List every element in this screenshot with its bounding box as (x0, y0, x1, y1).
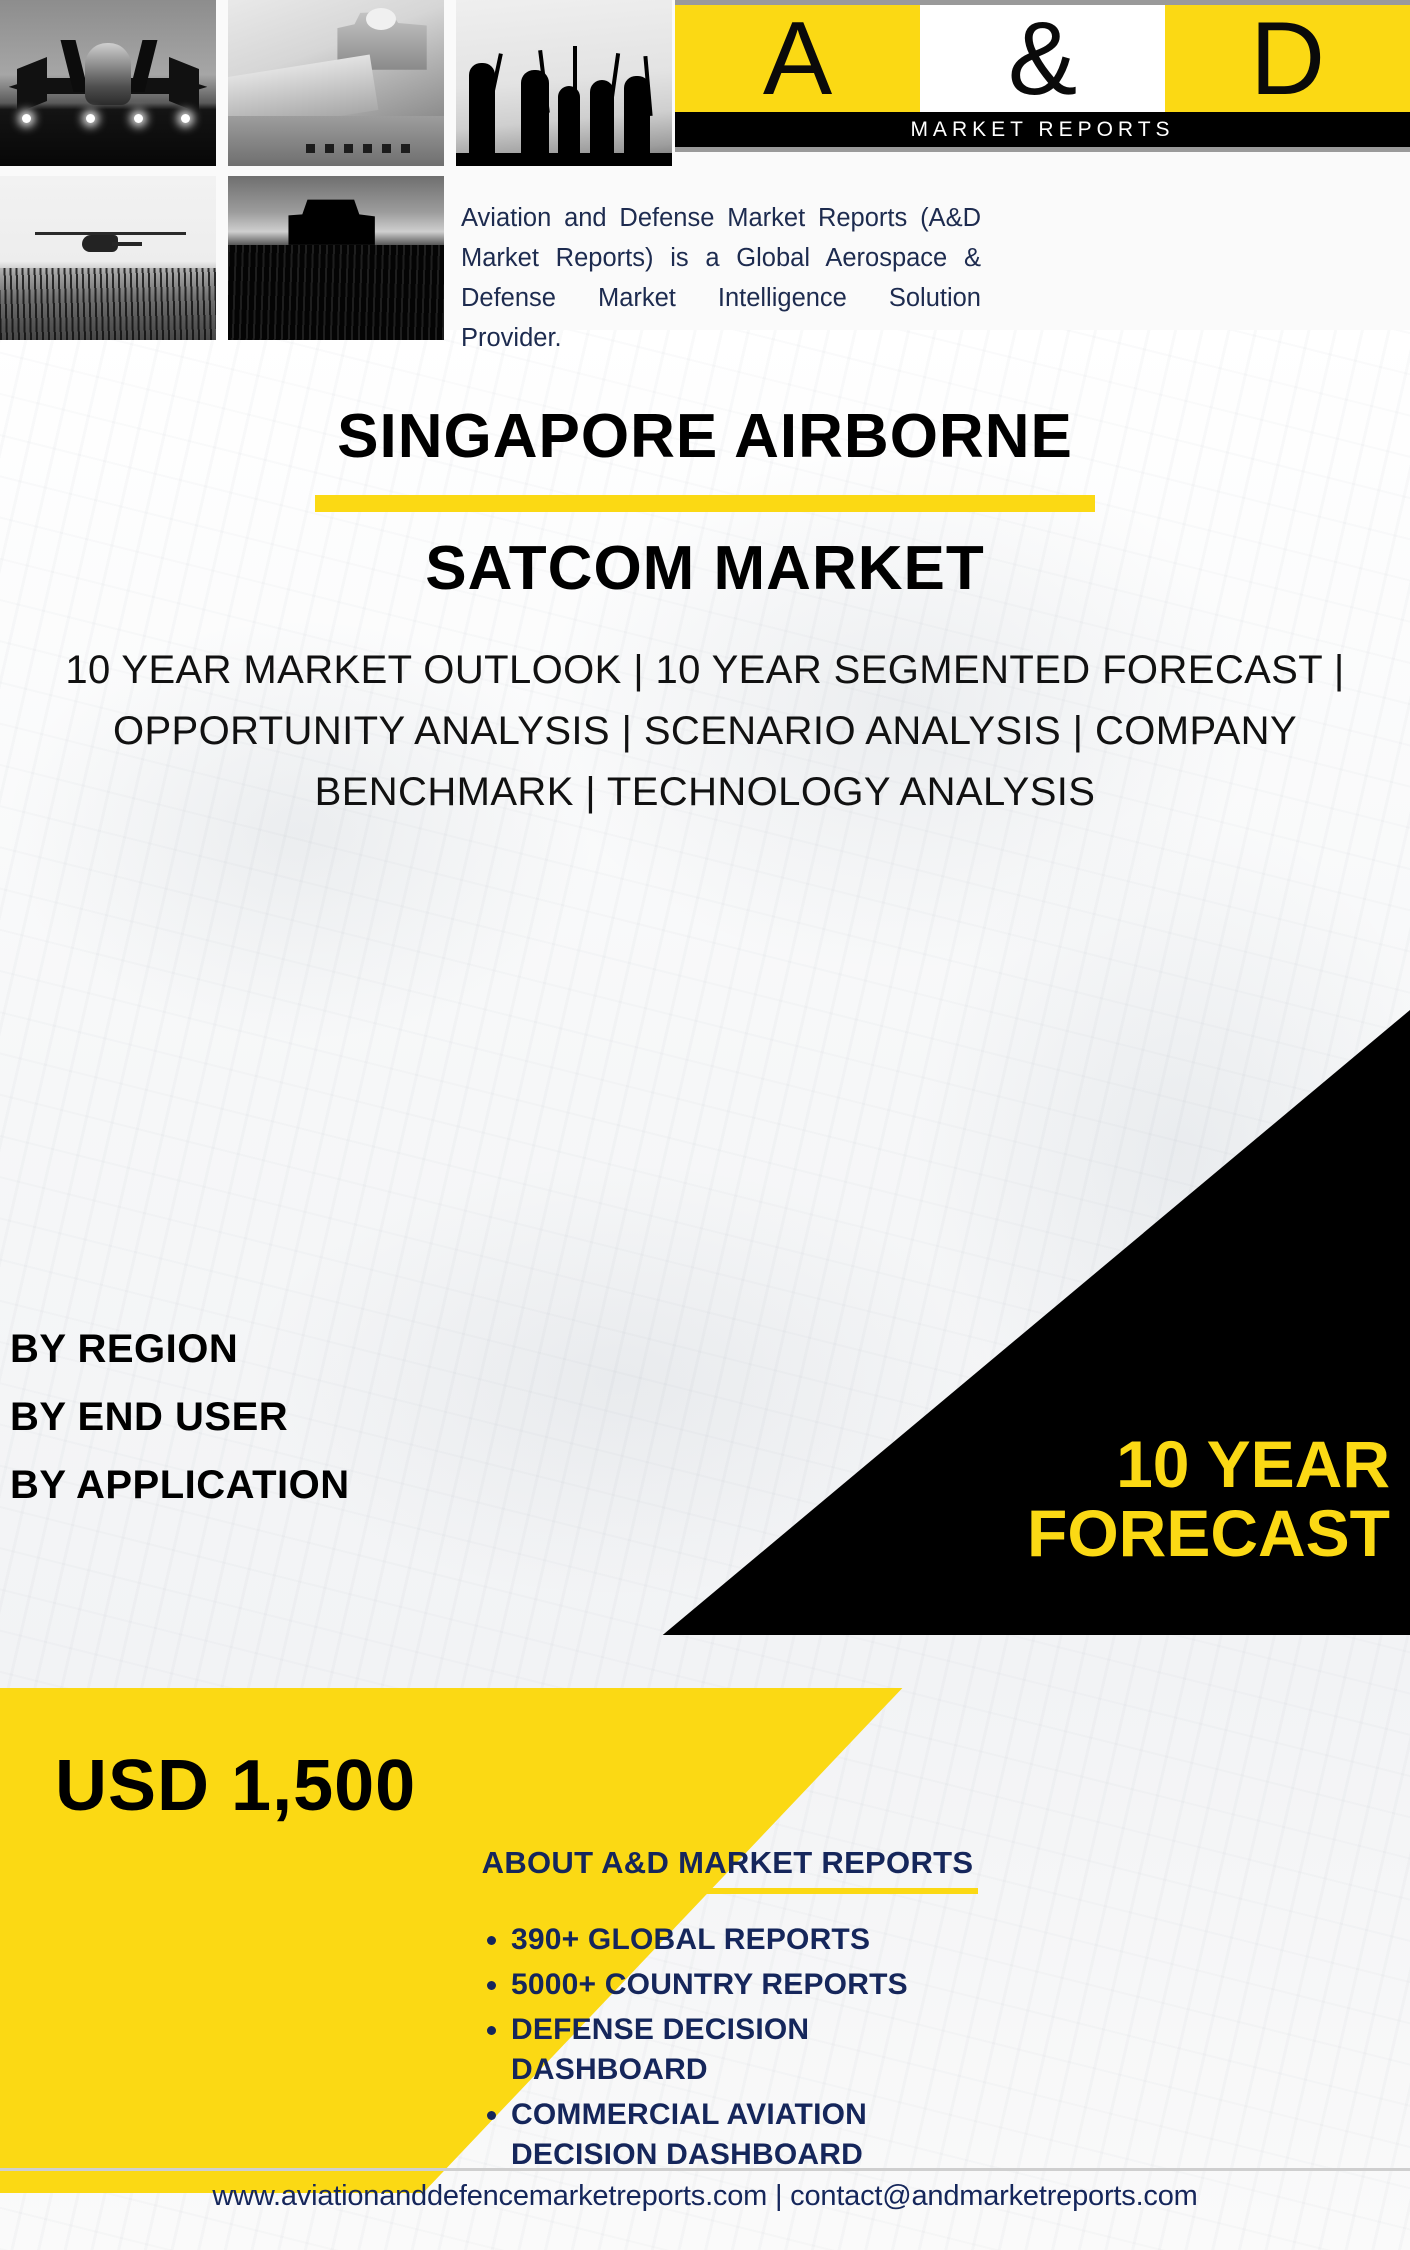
footer-contact: www.aviationanddefencemarketreports.com … (0, 2180, 1410, 2213)
list-item: DEFENSE DECISION DASHBOARD (511, 2010, 1000, 2090)
forecast-badge-line-2: FORECAST (870, 1499, 1390, 1568)
photo-military-vehicle-silhouette (228, 176, 444, 340)
headline-line-1: SINGAPORE AIRBORNE (0, 402, 1410, 471)
photo-soldiers-silhouette (456, 0, 672, 166)
list-item: 5000+ COUNTRY REPORTS (511, 1965, 1000, 2005)
price-value: USD 1,500 (55, 1745, 416, 1827)
logo-tiles: A & D (675, 5, 1410, 112)
about-underline (478, 1888, 978, 1894)
segment-item-by-application: BY APPLICATION (10, 1451, 350, 1519)
logo-letter-ampersand: & (920, 5, 1165, 112)
poster-root: A & D MARKET REPORTS Aviation and Defens… (0, 0, 1410, 2250)
segment-item-by-region: BY REGION (10, 1315, 350, 1383)
forecast-badge: 10 YEAR FORECAST (870, 1430, 1390, 1567)
logo-band-label: MARKET REPORTS (910, 118, 1174, 142)
photo-fighter-jet-on-carrier-deck (0, 0, 216, 166)
headline-block: SINGAPORE AIRBORNE SATCOM MARKET (0, 402, 1410, 604)
photo-helicopter-over-field (0, 176, 216, 340)
photo-aircraft-carrier (228, 0, 444, 166)
about-bullet-list: 390+ GLOBAL REPORTS 5000+ COUNTRY REPORT… (489, 1920, 1000, 2175)
segment-list: BY REGION BY END USER BY APPLICATION (10, 1315, 350, 1519)
list-item: COMMERCIAL AVIATION DECISION DASHBOARD (511, 2095, 1000, 2175)
headline-line-2: SATCOM MARKET (0, 534, 1410, 603)
brand-logo: A & D MARKET REPORTS (675, 0, 1410, 152)
logo-bottom-rule (675, 147, 1410, 152)
about-block: ABOUT A&D MARKET REPORTS 390+ GLOBAL REP… (455, 1845, 1000, 2180)
logo-letter-a: A (675, 5, 920, 112)
footer-divider (0, 2168, 1410, 2171)
logo-letter-d: D (1165, 5, 1410, 112)
headline-yellow-rule (315, 495, 1095, 512)
segment-item-by-end-user: BY END USER (10, 1383, 350, 1451)
subtitle-features: 10 YEAR MARKET OUTLOOK | 10 YEAR SEGMENT… (30, 640, 1380, 823)
forecast-badge-line-1: 10 YEAR (870, 1430, 1390, 1499)
about-title: ABOUT A&D MARKET REPORTS (455, 1845, 1000, 1881)
list-item: 390+ GLOBAL REPORTS (511, 1920, 1000, 1960)
intro-paragraph: Aviation and Defense Market Reports (A&D… (461, 198, 981, 358)
photo-grid (0, 0, 448, 340)
logo-band: MARKET REPORTS (675, 112, 1410, 147)
